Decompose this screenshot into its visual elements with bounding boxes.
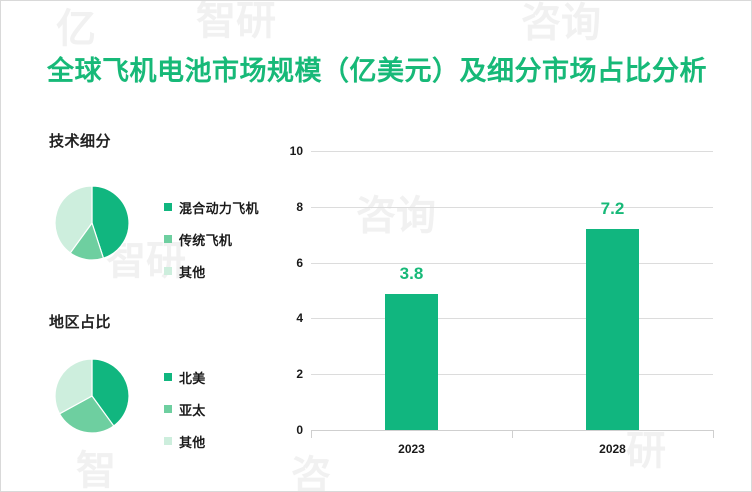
legend-item-region-2[interactable]: 其他 [164, 425, 206, 457]
pie-technology-svg [53, 184, 131, 262]
watermark: 智研 [196, 1, 276, 41]
watermark: 咨询 [521, 3, 601, 43]
bar-chart: 0246810 3.87.2 20232028 [281, 141, 721, 451]
legend-label: 亚太 [179, 400, 206, 419]
page-title: 全球飞机电池市场规模（亿美元）及细分市场占比分析 [1, 49, 752, 88]
legend-swatch-icon [164, 405, 172, 413]
chart-gridline [311, 151, 713, 152]
chart-gridline [311, 207, 713, 208]
legend-label: 北美 [179, 368, 206, 387]
chart-gridline [311, 374, 713, 375]
y-axis-tick-label: 2 [296, 367, 311, 381]
legend-label: 其他 [179, 262, 206, 281]
y-axis-tick-label: 8 [296, 200, 311, 214]
legend-swatch-icon [164, 437, 172, 445]
chart-gridline [311, 263, 713, 264]
legend-swatch-icon [164, 267, 172, 275]
y-axis-tick-label: 10 [290, 144, 311, 158]
pie-chart-technology [53, 184, 131, 262]
section-heading-technology: 技术细分 [49, 130, 111, 151]
y-axis-tick-label: 6 [296, 256, 311, 270]
y-axis-tick-label: 4 [296, 311, 311, 325]
legend-label: 传统飞机 [179, 230, 232, 249]
legend-item-technology-0[interactable]: 混合动力飞机 [164, 191, 259, 223]
chart-gridline [311, 318, 713, 319]
legend-label: 其他 [179, 432, 206, 451]
legend-item-technology-2[interactable]: 其他 [164, 255, 259, 287]
legend-item-technology-1[interactable]: 传统飞机 [164, 223, 259, 255]
x-axis-tick-label-2023: 2023 [398, 442, 425, 456]
x-axis-tickmark [512, 430, 513, 438]
section-heading-region: 地区占比 [49, 311, 111, 332]
pie-chart-region [53, 357, 131, 435]
x-axis-tick-label-2028: 2028 [599, 442, 626, 456]
bar-value-label-2023: 3.8 [400, 264, 424, 284]
legend-item-region-1[interactable]: 亚太 [164, 393, 206, 425]
watermark: 亿 [56, 9, 96, 49]
bar-2028[interactable] [586, 229, 639, 430]
legend-swatch-icon [164, 235, 172, 243]
watermark: 咨 [291, 456, 331, 492]
bar-2023[interactable] [385, 294, 438, 430]
bar-value-label-2028: 7.2 [601, 199, 625, 219]
legend-technology: 混合动力飞机 传统飞机 其他 [164, 191, 259, 287]
x-axis-tickmark [713, 430, 714, 438]
watermark: 智 [76, 451, 116, 491]
legend-swatch-icon [164, 203, 172, 211]
x-axis-tickmark [311, 430, 312, 438]
infographic-canvas: 亿 智研 咨询 智研 咨询 研 智 咨 全球飞机电池市场规模（亿美元）及细分市场… [0, 0, 752, 492]
y-axis-tick-label: 0 [296, 423, 311, 437]
legend-item-region-0[interactable]: 北美 [164, 361, 206, 393]
legend-label: 混合动力飞机 [179, 198, 259, 217]
pie-region-svg [53, 357, 131, 435]
legend-region: 北美 亚太 其他 [164, 361, 206, 457]
legend-swatch-icon [164, 373, 172, 381]
